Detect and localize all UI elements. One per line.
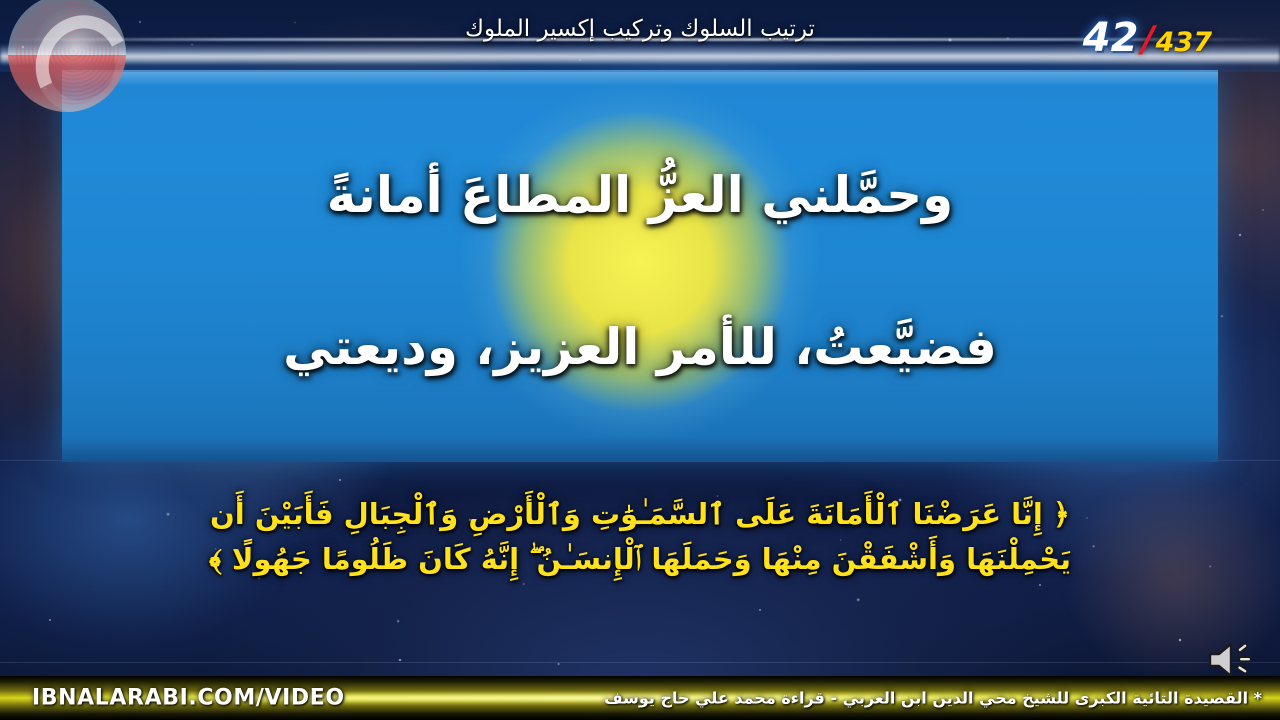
quran-verse-block: ﴿ إِنَّا عَرَضْنَا ٱلْأَمَانَةَ عَلَى ٱل… <box>70 492 1210 582</box>
slide-counter: 42 / 437 <box>1083 18 1212 58</box>
verse-line-2: يَحْمِلْنَهَا وَأَشْفَقْنَ مِنْهَا وَحَم… <box>70 537 1210 582</box>
credit-text: * القصيدة التائية الكبرى للشيخ محي الدين… <box>604 689 1262 708</box>
poem-panel: وحمَّلني العزُّ المطاعَ أمانةً فضيَّعتُ،… <box>62 70 1218 462</box>
verse-line-1: ﴿ إِنَّا عَرَضْنَا ٱلْأَمَانَةَ عَلَى ٱل… <box>70 492 1210 537</box>
counter-current: 42 <box>1083 18 1139 58</box>
scanline-seam-lower <box>0 662 1280 663</box>
counter-separator: / <box>1141 22 1154 58</box>
panel-bottom-fade <box>62 436 1218 462</box>
bottom-ticker-bar: IBNALARABI.COM/VIDEO * القصيدة التائية ا… <box>0 676 1280 720</box>
video-frame: وحمَّلني العزُّ المطاعَ أمانةً فضيَّعتُ،… <box>0 0 1280 720</box>
poem-line-1: وحمَّلني العزُّ المطاعَ أمانةً <box>62 166 1218 224</box>
poem-line-2: فضيَّعتُ، للأمر العزيز، وديعتي <box>62 318 1218 376</box>
panel-top-sheen <box>62 70 1218 86</box>
ibnalarabi-logo-icon <box>8 0 126 112</box>
speaker-volume-icon[interactable] <box>1204 640 1258 680</box>
website-url[interactable]: IBNALARABI.COM/VIDEO <box>32 686 345 711</box>
counter-total: 437 <box>1156 29 1212 56</box>
